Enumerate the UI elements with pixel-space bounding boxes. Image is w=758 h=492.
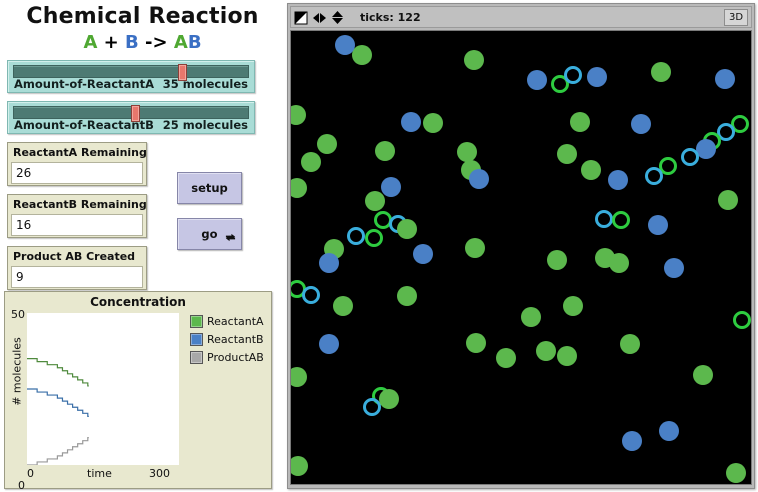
molecule-product-ab-blue-ring	[681, 148, 699, 166]
forever-loop-icon	[225, 232, 236, 245]
x-axis-label: time	[87, 467, 112, 480]
molecule-product-ab-green-ring	[612, 211, 630, 229]
simulation-world[interactable]	[290, 30, 752, 485]
slider-amount-of-reactant-b[interactable]: Amount-of-ReactantB 25 molecules	[7, 101, 255, 134]
molecule-reactant-a	[726, 463, 746, 483]
monitor-product-ab-created: Product AB Created 9	[7, 246, 147, 290]
monitor-value-reactant-a: 26	[11, 162, 143, 184]
molecule-product-ab-blue-ring	[645, 167, 663, 185]
molecule-reactant-b	[659, 421, 679, 441]
monitor-label-reactant-a: ReactantA Remaining	[11, 145, 143, 160]
page-title: Chemical Reaction	[0, 4, 285, 30]
legend-swatch-reactant-b	[190, 333, 203, 346]
molecule-reactant-a	[581, 160, 601, 180]
y-axis-tick-min: 0	[7, 479, 25, 492]
molecule-reactant-a	[557, 144, 577, 164]
molecule-reactant-b	[381, 177, 401, 197]
monitor-reactant-b-remaining: ReactantB Remaining 16	[7, 194, 147, 238]
equation-term-b: B	[125, 32, 139, 53]
molecule-reactant-b	[413, 244, 433, 264]
molecule-reactant-b	[527, 70, 547, 90]
legend-swatch-product-ab	[190, 351, 203, 364]
molecule-reactant-b	[587, 67, 607, 87]
equation-arrow: ->	[145, 32, 168, 53]
molecule-reactant-a	[570, 112, 590, 132]
legend-label-product-ab: ProductAB	[207, 351, 264, 364]
molecule-reactant-a	[397, 219, 417, 239]
slider-value-a: 35 molecules	[163, 77, 248, 91]
monitor-label-reactant-b: ReactantB Remaining	[11, 197, 143, 212]
molecule-reactant-b	[608, 170, 628, 190]
molecule-reactant-b	[648, 215, 668, 235]
molecule-reactant-a	[290, 367, 307, 387]
y-axis-label: # molecules	[11, 317, 24, 427]
view-toolbar: ticks: 122 3D	[290, 6, 752, 28]
legend-item-reactant-a[interactable]: ReactantA	[190, 313, 272, 330]
left-right-arrows-icon[interactable]	[312, 10, 327, 25]
plot-series-productab	[27, 438, 89, 465]
setup-button[interactable]: setup	[177, 172, 242, 204]
go-button[interactable]: go	[177, 218, 242, 250]
molecule-reactant-b	[319, 253, 339, 273]
x-axis-tick-max: 300	[149, 467, 170, 480]
three-d-button[interactable]: 3D	[724, 9, 748, 26]
go-button-label: go	[201, 227, 217, 241]
molecule-reactant-a	[301, 152, 321, 172]
x-axis-tick-min: 0	[27, 467, 34, 480]
setup-button-label: setup	[191, 181, 228, 195]
molecule-reactant-a	[464, 50, 484, 70]
title-block: Chemical Reaction A + B -> AB	[0, 0, 285, 55]
molecule-reactant-a	[496, 348, 516, 368]
molecule-reactant-a	[563, 296, 583, 316]
slider-label-b: Amount-of-ReactantB	[14, 118, 154, 132]
plot-lines	[27, 313, 179, 465]
slider-amount-of-reactant-a[interactable]: Amount-of-ReactantA 35 molecules	[7, 60, 255, 93]
molecule-product-ab-blue-ring	[363, 398, 381, 416]
molecule-reactant-a	[379, 389, 399, 409]
legend-swatch-reactant-a	[190, 315, 203, 328]
molecule-reactant-a	[365, 191, 385, 211]
legend-item-product-ab[interactable]: ProductAB	[190, 349, 272, 366]
plot-series-reactantb	[27, 389, 89, 416]
molecule-reactant-a	[375, 141, 395, 161]
plot-legend: ReactantA ReactantB ProductAB	[190, 313, 272, 367]
molecule-reactant-a	[423, 113, 443, 133]
molecule-reactant-a	[465, 238, 485, 258]
reaction-equation: A + B -> AB	[0, 31, 285, 55]
half-filled-square-icon[interactable]	[294, 10, 309, 25]
monitor-value-reactant-b: 16	[11, 214, 143, 236]
equation-term-a: A	[83, 32, 97, 53]
molecule-product-ab-blue-ring	[595, 210, 613, 228]
molecule-reactant-a	[651, 62, 671, 82]
equation-product-a: A	[174, 32, 188, 53]
molecule-product-ab-blue-ring	[302, 286, 320, 304]
molecule-reactant-a	[609, 253, 629, 273]
slider-value-b: 25 molecules	[163, 118, 248, 132]
plot-series-reactanta	[27, 359, 89, 386]
molecule-reactant-a	[547, 250, 567, 270]
molecule-reactant-a	[693, 365, 713, 385]
molecule-reactant-b	[319, 334, 339, 354]
molecule-reactant-a	[466, 333, 486, 353]
molecule-reactant-a	[290, 178, 307, 198]
molecule-reactant-b	[401, 112, 421, 132]
molecule-reactant-a	[718, 190, 738, 210]
monitor-value-product-ab: 9	[11, 266, 143, 288]
molecule-reactant-a	[397, 286, 417, 306]
molecule-reactant-a	[290, 105, 306, 125]
molecule-reactant-a	[620, 334, 640, 354]
legend-item-reactant-b[interactable]: ReactantB	[190, 331, 272, 348]
slider-label-a: Amount-of-ReactantA	[14, 77, 154, 91]
molecule-reactant-b	[696, 139, 716, 159]
monitor-label-product-ab: Product AB Created	[11, 249, 143, 264]
equation-plus: +	[104, 32, 119, 53]
equation-product-b: B	[188, 32, 202, 53]
molecule-reactant-b	[622, 431, 642, 451]
molecule-reactant-a	[521, 307, 541, 327]
molecule-reactant-a	[536, 341, 556, 361]
control-panel: Chemical Reaction A + B -> AB Amount-of-…	[0, 0, 285, 492]
concentration-plot: Concentration 50 0 # molecules 0 time 30…	[4, 291, 272, 489]
molecule-product-ab-green-ring	[365, 229, 383, 247]
monitor-reactant-a-remaining: ReactantA Remaining 26	[7, 142, 147, 186]
ticks-counter: ticks: 122	[360, 11, 421, 24]
molecule-product-ab-blue-ring	[564, 66, 582, 84]
molecule-reactant-b	[469, 169, 489, 189]
molecule-reactant-b	[664, 258, 684, 278]
molecule-reactant-b	[631, 114, 651, 134]
molecule-reactant-a	[557, 346, 577, 366]
molecule-reactant-a	[333, 296, 353, 316]
molecule-reactant-b	[715, 69, 735, 89]
legend-label-reactant-a: ReactantA	[207, 315, 264, 328]
plot-area	[27, 313, 179, 465]
up-down-arrows-icon[interactable]	[330, 10, 345, 25]
plot-title: Concentration	[5, 292, 271, 311]
legend-label-reactant-b: ReactantB	[207, 333, 264, 346]
molecule-reactant-a	[352, 45, 372, 65]
world-view-panel: ticks: 122 3D	[287, 3, 755, 489]
molecule-product-ab-green-ring	[733, 311, 751, 329]
molecule-reactant-a	[290, 456, 308, 476]
molecule-product-ab-blue-ring	[347, 227, 365, 245]
molecule-reactant-a	[317, 134, 337, 154]
